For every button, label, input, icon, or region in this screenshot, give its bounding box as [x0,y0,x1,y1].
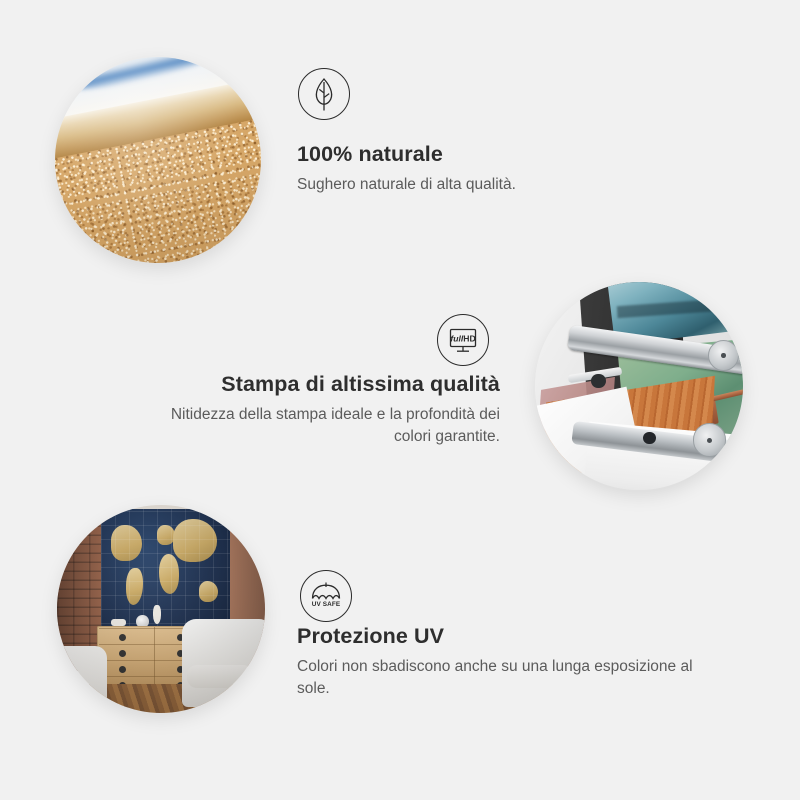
cork-photo-shading [55,57,261,263]
feature-natural-title: 100% naturale [297,142,717,168]
leaf-icon [298,68,350,120]
feature-print-subtitle: Nitidezza della stampa ideale e la profo… [140,404,500,448]
feature-uv-text: Protezione UV Colori non sbadiscono anch… [297,624,697,700]
feature-print-text: Stampa di altissima qualità Nitidezza de… [140,372,500,448]
feature-uv-subtitle: Colori non sbadiscono anche su una lunga… [297,656,697,700]
cork-texture-photo [55,57,261,263]
feature-print-title: Stampa di altissima qualità [140,372,500,398]
fullhd-icon-label-regular: HD [463,333,475,343]
printer-photo-wheel [708,340,739,371]
room-photo-shading [57,505,265,713]
printer-photo-wheel [693,423,726,456]
printer-photo-knob [591,374,606,389]
feature-uv-title: Protezione UV [297,624,697,650]
uv-safe-umbrella-icon: UV SAFE [300,570,352,622]
room-world-map-photo [57,505,265,713]
printing-machine-photo [535,282,743,490]
feature-natural-text: 100% naturale Sughero naturale di alta q… [297,142,717,196]
feature-natural-subtitle: Sughero naturale di alta qualità. [297,174,717,196]
fullhd-icon-label-italic: full [450,333,463,343]
svg-text:fullHD: fullHD [450,333,475,343]
feature-highlights-page: 100% naturale Sughero naturale di alta q… [0,0,800,800]
fullhd-monitor-icon: fullHD [437,314,489,366]
printer-photo-knob [643,432,655,444]
uv-safe-icon-label: UV SAFE [312,601,341,608]
